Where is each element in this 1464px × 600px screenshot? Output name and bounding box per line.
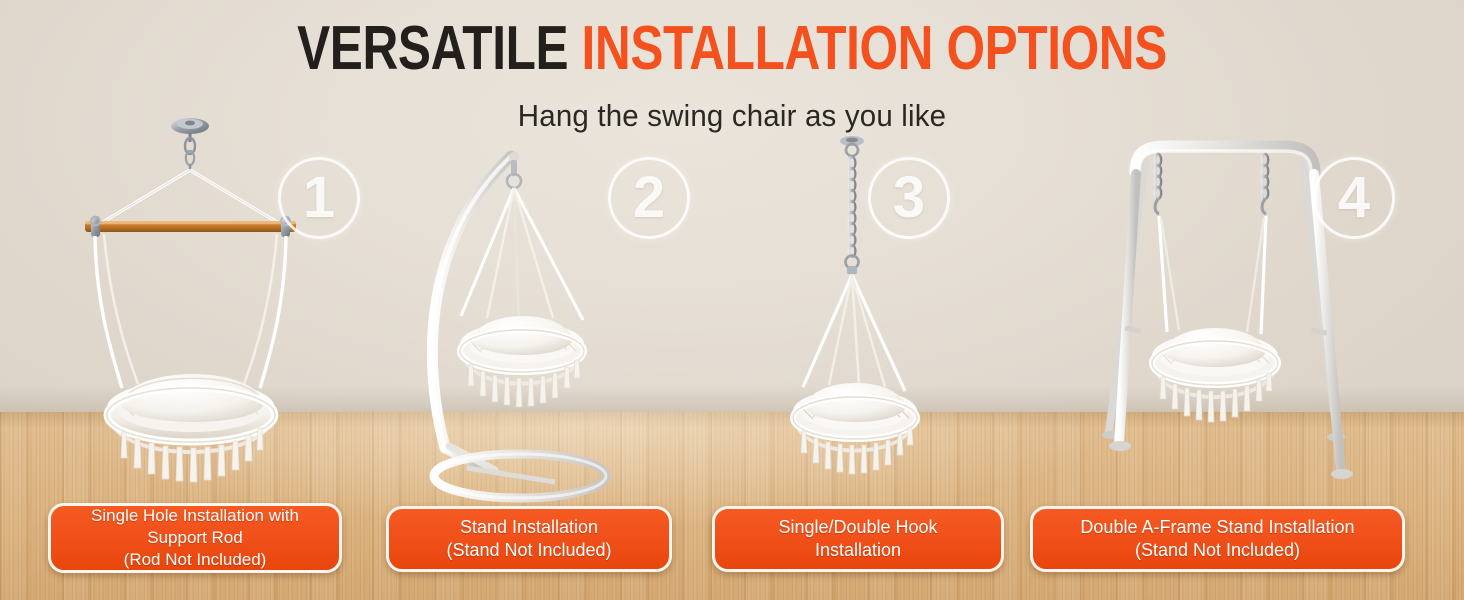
option-3-label: Single/Double Hook Installation <box>712 506 1004 572</box>
title-part-1: VERSATILE <box>297 14 581 83</box>
option-2-label-line-1: Stand Installation <box>446 516 611 539</box>
option-2-illustration <box>415 148 630 503</box>
promo-banner: VERSATILE INSTALLATION OPTIONS Hang the … <box>0 0 1464 600</box>
option-3-label-line-1: Single/Double Hook <box>778 516 937 539</box>
option-3-label-line-2: Installation <box>778 539 937 562</box>
step-number-4-value: 4 <box>1338 169 1370 227</box>
option-1-label-line-2: Support Rod <box>91 527 299 549</box>
option-1-label: Single Hole Installation with Support Ro… <box>48 503 342 573</box>
option-4-label: Double A-Frame Stand Installation (Stand… <box>1030 506 1405 572</box>
option-2-label-line-2: (Stand Not Included) <box>446 539 611 562</box>
step-number-3-value: 3 <box>893 169 925 227</box>
step-number-4: 4 <box>1313 157 1395 239</box>
option-1-label-line-3: (Rod Not Included) <box>91 549 299 571</box>
option-4-label-line-2: (Stand Not Included) <box>1080 539 1354 562</box>
step-number-2: 2 <box>608 157 690 239</box>
option-1-illustration <box>60 112 320 502</box>
step-number-1: 1 <box>278 157 360 239</box>
step-number-1-value: 1 <box>303 169 335 227</box>
option-4-label-line-1: Double A-Frame Stand Installation <box>1080 516 1354 539</box>
step-number-3: 3 <box>868 157 950 239</box>
option-1-label-line-1: Single Hole Installation with <box>91 505 299 527</box>
step-number-2-value: 2 <box>633 169 665 227</box>
title-part-2: INSTALLATION OPTIONS <box>582 14 1167 83</box>
option-2-label: Stand Installation (Stand Not Included) <box>386 506 672 572</box>
page-title: VERSATILE INSTALLATION OPTIONS <box>146 18 1317 80</box>
